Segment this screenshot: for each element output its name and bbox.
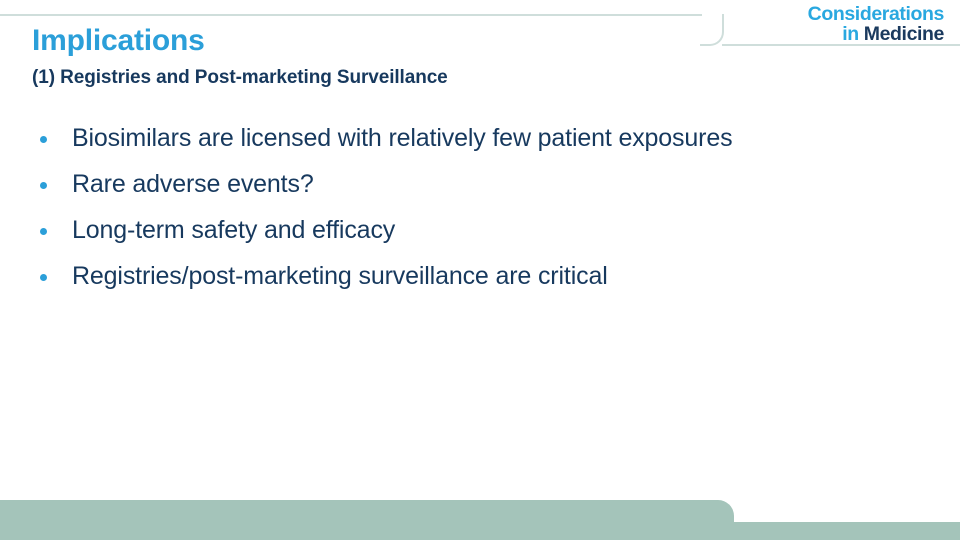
header-rule-left-segment: [0, 14, 702, 16]
bullet-text: Long-term safety and efficacy: [72, 216, 395, 244]
bullet-list-item: Rare adverse events?: [32, 170, 942, 200]
header-rule-rounded-corner: [700, 14, 724, 46]
logo-word-in: in: [842, 23, 859, 45]
slide-subtitle: (1) Registries and Post-marketing Survei…: [32, 67, 448, 89]
bullet-dot-icon: [40, 228, 47, 235]
bullet-list: Biosimilars are licensed with relatively…: [32, 124, 942, 308]
bullet-list-item: Biosimilars are licensed with relatively…: [32, 124, 942, 154]
bullet-dot-icon: [40, 136, 47, 143]
bullet-list-item: Long-term safety and efficacy: [32, 216, 942, 246]
logo-line-in-medicine: in Medicine: [808, 24, 944, 44]
logo-word-medicine: Medicine: [864, 23, 944, 45]
bullet-dot-icon: [40, 182, 47, 189]
bullet-dot-icon: [40, 274, 47, 281]
bullet-text: Biosimilars are licensed with relatively…: [72, 124, 732, 152]
slide-canvas: Considerations in Medicine Implications …: [0, 0, 960, 540]
bullet-text: Registries/post-marketing surveillance a…: [72, 262, 608, 290]
footer-band-right: [718, 522, 960, 540]
footer-band-left: [0, 500, 734, 540]
logo-line-considerations: Considerations: [808, 4, 944, 24]
bullet-list-item: Registries/post-marketing surveillance a…: [32, 262, 942, 292]
slide-title: Implications: [32, 24, 205, 58]
bullet-text: Rare adverse events?: [72, 170, 314, 198]
brand-logo: Considerations in Medicine: [808, 4, 944, 45]
